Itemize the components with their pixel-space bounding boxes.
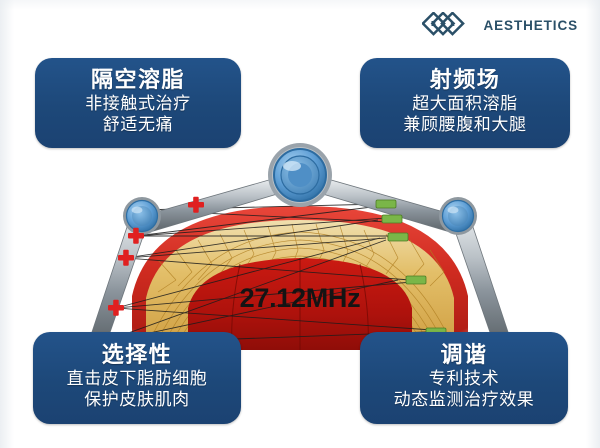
feature-card-rf-field[interactable]: 射频场 超大面积溶脂 兼顾腰腹和大腿 xyxy=(360,58,570,148)
frequency-label: 27.12MHz xyxy=(0,283,600,314)
card-title: 隔空溶脂 xyxy=(91,68,185,93)
card-line-2: 兼顾腰腹和大腿 xyxy=(403,115,526,136)
rf-treatment-diagram xyxy=(80,140,520,350)
card-line-2: 舒适无痛 xyxy=(103,115,173,136)
brand-name: AESTHETICS xyxy=(483,18,578,33)
card-line-2: 动态监测治疗效果 xyxy=(394,390,535,411)
minus-electrode-icon xyxy=(376,200,396,208)
feature-card-tuning[interactable]: 调谐 专利技术 动态监测治疗效果 xyxy=(360,332,568,424)
slide-canvas: B T L AESTHETICS xyxy=(0,0,600,448)
card-line-2: 保护皮肤肌肉 xyxy=(84,390,190,411)
round-rf-electrode-icon-left[interactable] xyxy=(123,197,161,235)
btl-diamond-logo-icon: B T L xyxy=(422,12,474,38)
card-line-1: 非接触式治疗 xyxy=(85,94,191,115)
logo-letter-b: B xyxy=(431,21,436,28)
logo-letter-l: L xyxy=(451,21,456,28)
card-title: 调谐 xyxy=(440,343,487,368)
logo-letter-t: T xyxy=(441,21,446,28)
minus-electrode-icon xyxy=(388,233,408,241)
brand-logo: B T L AESTHETICS xyxy=(422,12,578,38)
card-title: 选择性 xyxy=(102,343,173,368)
round-rf-applicator-head-icon[interactable] xyxy=(268,143,332,207)
feature-card-selectivity[interactable]: 选择性 直击皮下脂肪细胞 保护皮肤肌肉 xyxy=(33,332,241,424)
feature-card-noncontact[interactable]: 隔空溶脂 非接触式治疗 舒适无痛 xyxy=(35,58,241,148)
card-line-1: 直击皮下脂肪细胞 xyxy=(67,369,208,390)
round-rf-electrode-icon-right[interactable] xyxy=(439,197,477,235)
card-line-1: 专利技术 xyxy=(429,369,499,390)
rf-diagram-svg xyxy=(80,140,520,350)
minus-electrode-icon xyxy=(382,215,402,223)
card-title: 射频场 xyxy=(430,68,501,93)
card-line-1: 超大面积溶脂 xyxy=(412,94,518,115)
